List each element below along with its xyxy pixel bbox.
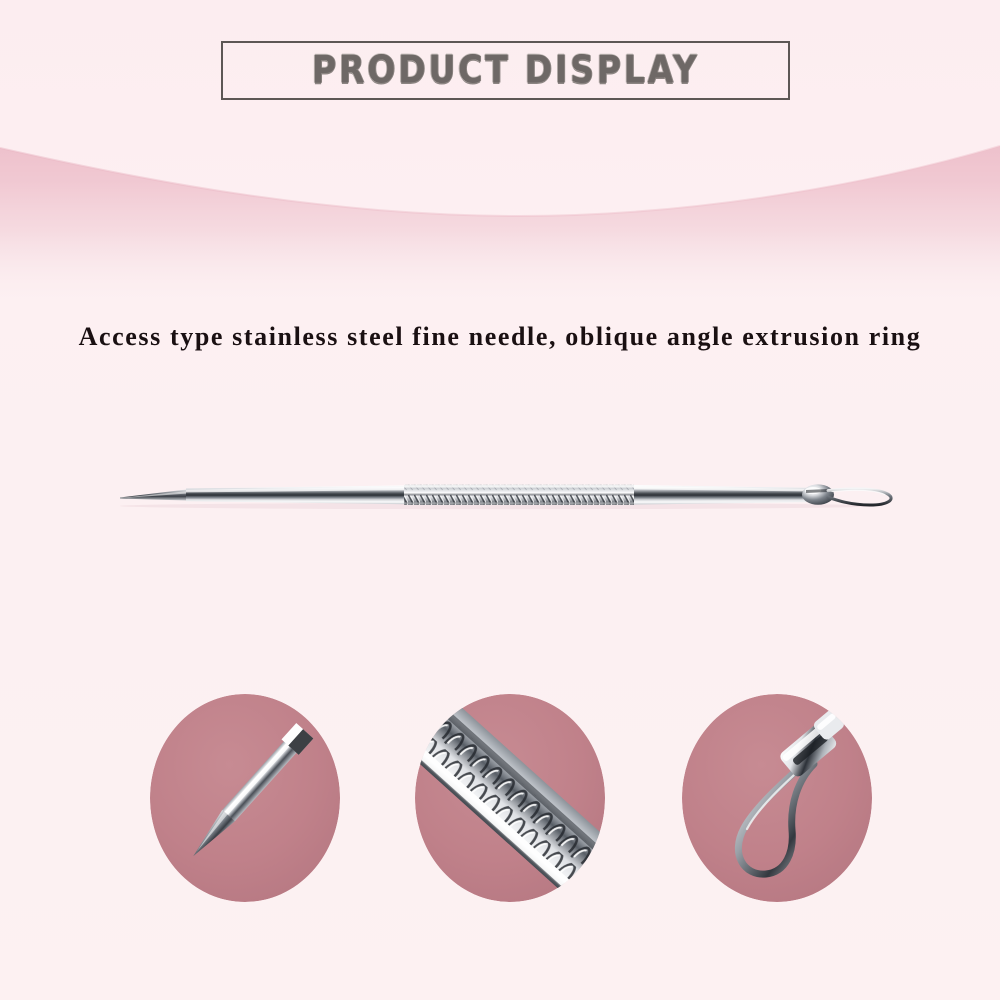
product-description: Access type stainless steel fine needle,… <box>0 322 1000 352</box>
lower-shaft-segment <box>634 485 806 505</box>
needle-tip-segment <box>120 490 186 501</box>
detail-callouts-row <box>0 694 1000 910</box>
page-title: PRODUCT DISPLAY <box>312 49 700 92</box>
page-title-box: PRODUCT DISPLAY <box>221 41 790 100</box>
detail-circle-extrusion-loop <box>682 694 872 902</box>
upper-shaft-segment <box>186 485 404 504</box>
detail-circle-needle-tip <box>150 694 340 902</box>
decorative-wave-band <box>0 120 1000 310</box>
extrusion-ring-loop <box>828 489 891 505</box>
detail-circle-knurled-grip <box>415 694 605 902</box>
product-display-page: PRODUCT DISPLAY Access type stainless st… <box>0 0 1000 1000</box>
extractor-head <box>802 484 834 504</box>
product-hero-image <box>0 440 1000 550</box>
knurled-grip-segment <box>404 485 634 505</box>
